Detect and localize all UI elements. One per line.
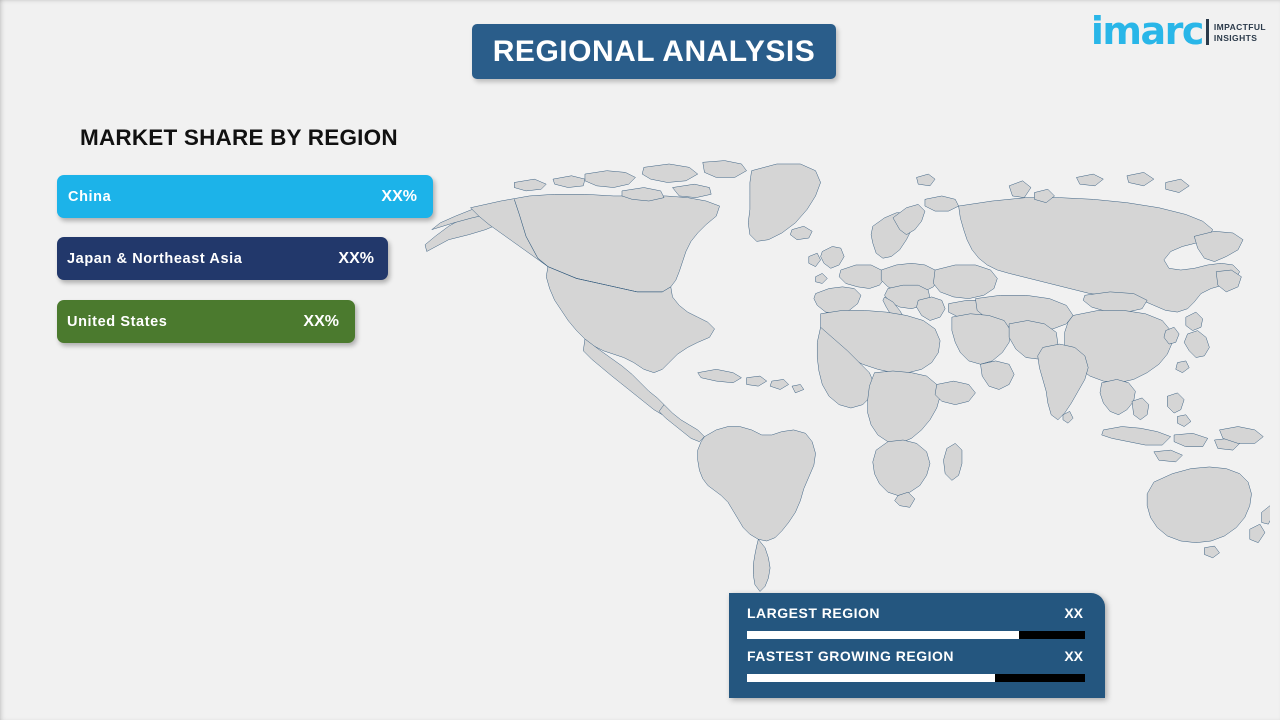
slide-canvas: imarc IMPACTFUL INSIGHTS REGIONAL ANALYS… — [0, 0, 1280, 720]
fastest-growing-region-row: FASTEST GROWING REGION XX — [747, 648, 1085, 682]
map-landmasses — [425, 161, 1270, 592]
share-bar-united-states: United States XX% — [57, 300, 355, 343]
region-highlights-panel: LARGEST REGION XX FASTEST GROWING REGION… — [729, 593, 1105, 698]
largest-region-head: LARGEST REGION XX — [747, 605, 1085, 627]
share-bar-value: XX% — [381, 188, 417, 206]
logo-tagline-line2: INSIGHTS — [1214, 33, 1266, 44]
fastest-growing-region-head: FASTEST GROWING REGION XX — [747, 648, 1085, 670]
share-bar-label: Japan & Northeast Asia — [67, 251, 242, 267]
share-bar-value: XX% — [303, 313, 339, 331]
market-share-heading: MARKET SHARE BY REGION — [80, 125, 398, 151]
largest-region-progress-fill — [747, 631, 1019, 639]
share-bar-china: China XX% — [57, 175, 433, 218]
largest-region-value: XX — [1064, 605, 1085, 621]
fastest-growing-region-progress-track — [747, 674, 1085, 682]
page-title: REGIONAL ANALYSIS — [493, 35, 815, 69]
logo-wordmark: imarc — [1091, 14, 1203, 48]
share-bar-value: XX% — [338, 250, 374, 268]
logo-divider — [1206, 19, 1209, 45]
share-bar-label: China — [67, 189, 111, 205]
world-map-svg — [420, 146, 1270, 596]
fastest-growing-region-value: XX — [1064, 648, 1085, 664]
share-bar-japan-northeast-asia: Japan & Northeast Asia XX% — [57, 237, 388, 280]
fastest-growing-region-label: FASTEST GROWING REGION — [747, 648, 954, 664]
logo-tagline: IMPACTFUL INSIGHTS — [1214, 22, 1266, 44]
logo-tagline-line1: IMPACTFUL — [1214, 22, 1266, 33]
fastest-growing-region-progress-fill — [747, 674, 995, 682]
world-map — [420, 146, 1270, 596]
share-bar-label: United States — [67, 314, 167, 330]
imarc-logo: imarc IMPACTFUL INSIGHTS — [1091, 8, 1266, 48]
page-title-band: REGIONAL ANALYSIS — [472, 24, 836, 79]
largest-region-row: LARGEST REGION XX — [747, 605, 1085, 639]
largest-region-label: LARGEST REGION — [747, 605, 880, 621]
largest-region-progress-track — [747, 631, 1085, 639]
